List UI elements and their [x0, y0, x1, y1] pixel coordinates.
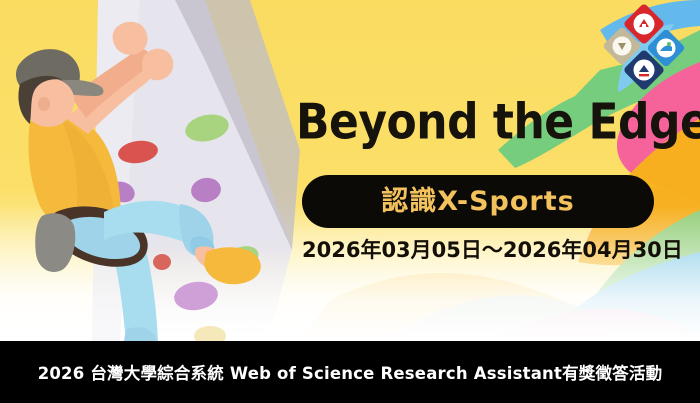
date-range: 2026年03月05日～2026年04月30日 — [302, 240, 654, 261]
climber-ear — [38, 97, 50, 111]
footer-title: 2026 台灣大學綜合系統 Web of Science Research As… — [38, 360, 663, 384]
footer-bar: 2026 台灣大學綜合系統 Web of Science Research As… — [0, 341, 700, 403]
climber-chalk-bag — [35, 213, 75, 272]
climber-illustration — [0, 0, 300, 341]
partner-logos[interactable] — [600, 2, 688, 94]
hold-red-small — [153, 254, 171, 270]
subtitle-pill: 認識X-Sports — [302, 175, 654, 228]
subtitle-pill-label: 認識X-Sports — [381, 188, 574, 215]
headline-title: Beyond the Edge! — [296, 98, 700, 147]
promo-banner: Beyond the Edge! 認識X-Sports 2026年03月05日～… — [0, 0, 700, 403]
